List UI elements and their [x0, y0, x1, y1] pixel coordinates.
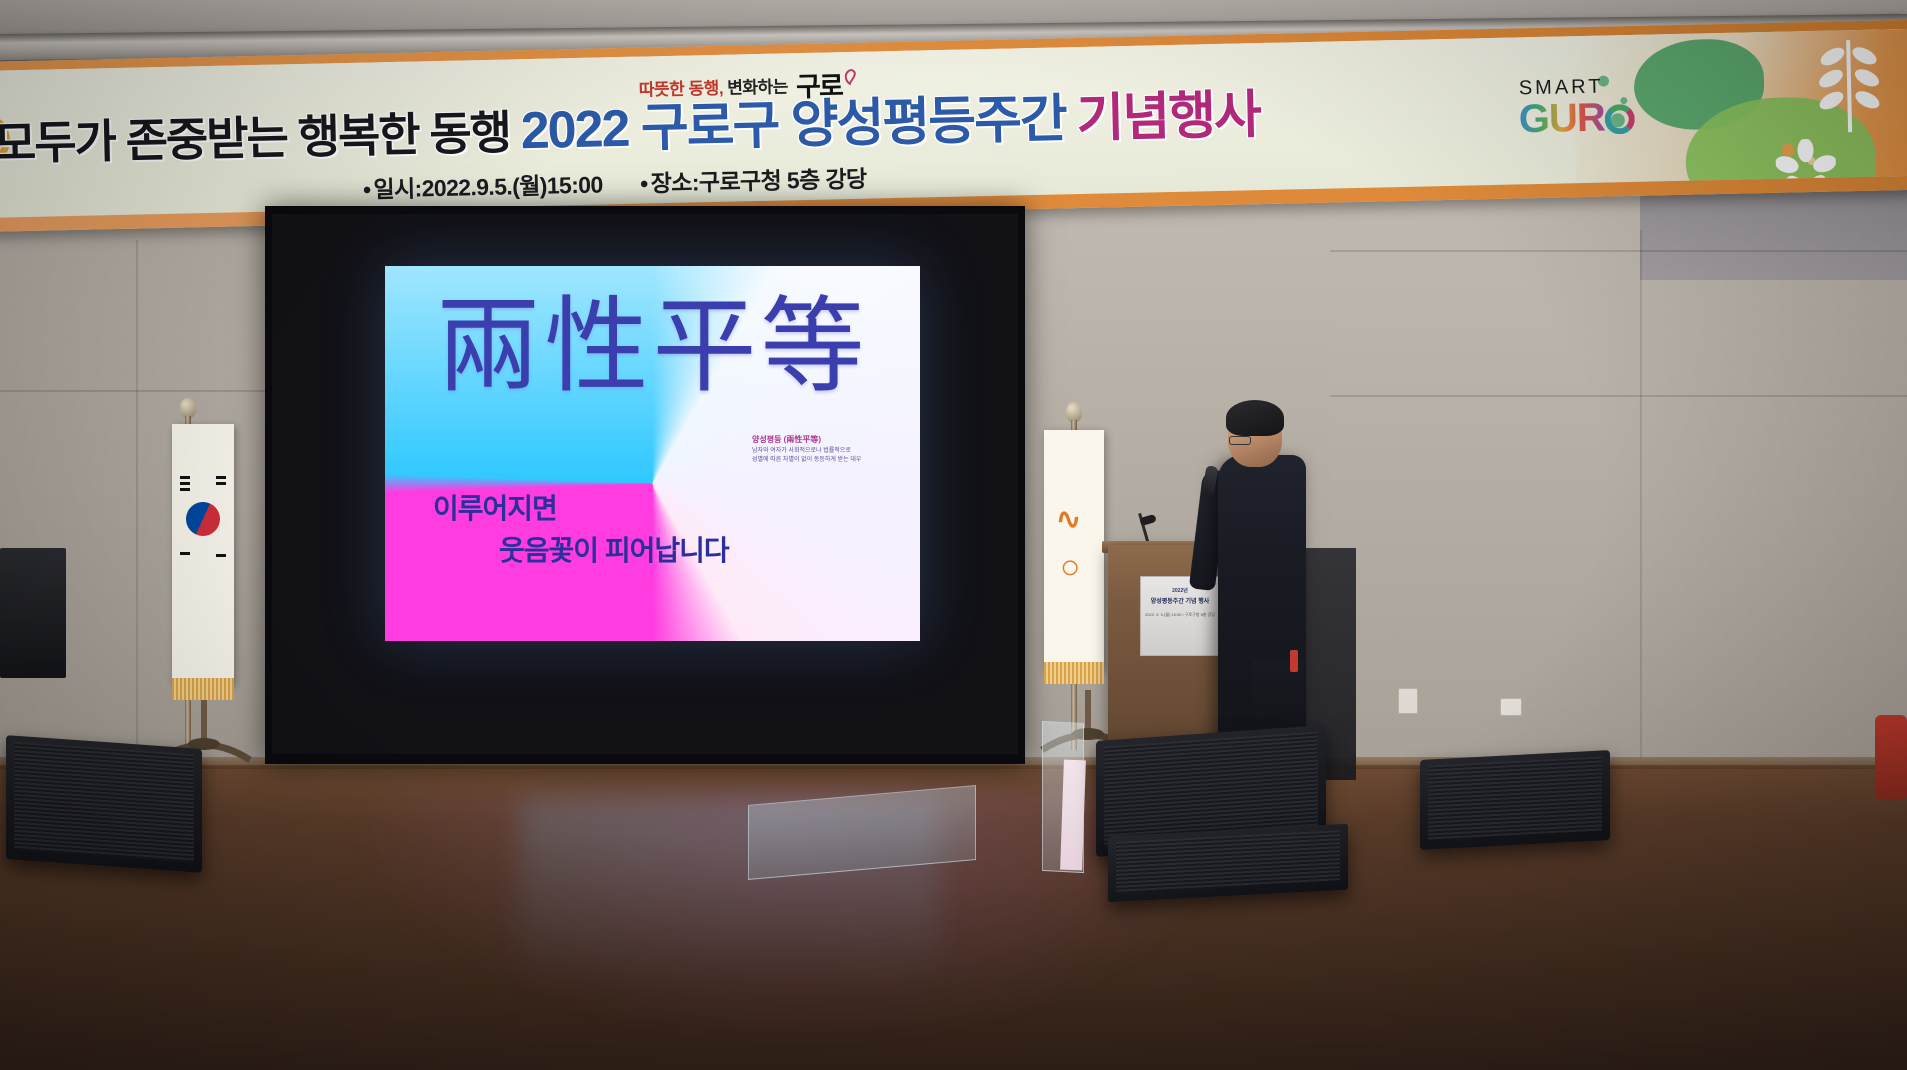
slide-note-line: 성별에 따른 차별이 없이 동등하게 받는 대우 [752, 456, 892, 465]
wall-panel-right [1330, 205, 1907, 765]
banner-date-label: 일시: [373, 175, 422, 202]
presenter-hair [1226, 400, 1284, 436]
presenter-badge [1290, 650, 1298, 672]
floor-monitor-speaker [1108, 824, 1348, 903]
wall-seam [1330, 250, 1907, 252]
flag-fringe [1044, 662, 1104, 684]
banner-date-value: 2022.9.5.(월)15:00 [421, 171, 603, 201]
flagpole-finial [1066, 402, 1082, 422]
bullet-icon: • [640, 170, 648, 196]
slide-caption: 이루어지면 웃음꽃이 피어납니다 [433, 488, 873, 572]
slide-definition-note: 양성평등 (兩性平等) 남자와 여자가 사회적으로나 법률적으로 성별에 따른 … [752, 434, 892, 464]
bullet-icon: • [363, 176, 371, 202]
guro-district-flag: ∿ ○ [1044, 430, 1104, 670]
projected-slide: 兩性平等 양성평등 (兩性平等) 남자와 여자가 사회적으로나 법률적으로 성별… [385, 266, 920, 641]
banner-place-value: 구로구청 5층 강당 [699, 166, 867, 196]
scene-root: 따뜻한 동행, 변화하는 구로 모두가 존중받는 행복한 동행 2022 구로구… [0, 0, 1907, 1070]
wall-outlet [1500, 698, 1522, 716]
paper-sheet [1060, 760, 1086, 871]
banner-subtitle-rest: 변화하는 [727, 77, 788, 97]
wall-seam [136, 240, 138, 760]
speaker-grill [14, 742, 194, 863]
wall-seam [1640, 230, 1642, 760]
wall-outlet [1398, 688, 1418, 714]
banner-info-line: •일시:2022.9.5.(월)15:00 •장소:구로구청 5층 강당 [363, 160, 867, 205]
glasses-icon [1229, 436, 1251, 445]
banner-headline: 모두가 존중받는 행복한 동행 2022 구로구 양성평등주간 기념행사 [0, 89, 1260, 169]
banner-place-label: 장소: [650, 169, 699, 196]
banner-headline-magenta: 기념행사 [1076, 86, 1261, 148]
podium-sign-line3: 2022. 9. 5.(월) 15:00 / 구로구청 5층 강당 [1145, 612, 1215, 619]
slide-note-line: 남자와 여자가 사회적으로나 법률적으로 [752, 447, 892, 456]
fire-extinguisher [1875, 715, 1907, 799]
slide-caption-line2: 웃음꽃이 피어납니다 [433, 530, 873, 572]
amplifier-box [0, 548, 66, 678]
banner-subtitle-warm: 따뜻한 동행, [639, 79, 724, 100]
korean-flag [172, 424, 234, 686]
dot-icon [1620, 97, 1627, 104]
slide-note-title: 양성평등 (兩性平等) [752, 434, 892, 445]
leaf-icon [1813, 37, 1885, 135]
guro-brand-mark-icon [844, 68, 857, 85]
banner-headline-black: 모두가 존중받는 행복한 동행 [0, 106, 511, 169]
slide-hanja-title: 兩性平等 [385, 294, 920, 398]
banner-headline-blue: 2022 구로구 양성평등주간 [520, 90, 1066, 160]
floor-monitor-speaker [1420, 750, 1610, 850]
guro-emblem-icon: ∿ [1054, 501, 1083, 538]
flagpole-finial [180, 398, 196, 418]
podium-sign-line2: 양성평등주간 기념 행사 [1145, 596, 1215, 605]
taegeuk-symbol-icon [181, 497, 225, 541]
wall-seam [0, 390, 270, 392]
logo-guro-text: GUR [1518, 99, 1605, 139]
slide-caption-line1: 이루어지면 [433, 493, 557, 524]
speaker-grill [1428, 756, 1602, 839]
speaker-grill [1116, 830, 1340, 892]
floor-monitor-speaker [6, 735, 202, 873]
guro-emblem-icon: ○ [1060, 548, 1081, 587]
flag-fringe [172, 678, 234, 700]
smart-guro-logo: SMART GUR [1518, 76, 1605, 139]
wall-seam [1330, 395, 1907, 397]
